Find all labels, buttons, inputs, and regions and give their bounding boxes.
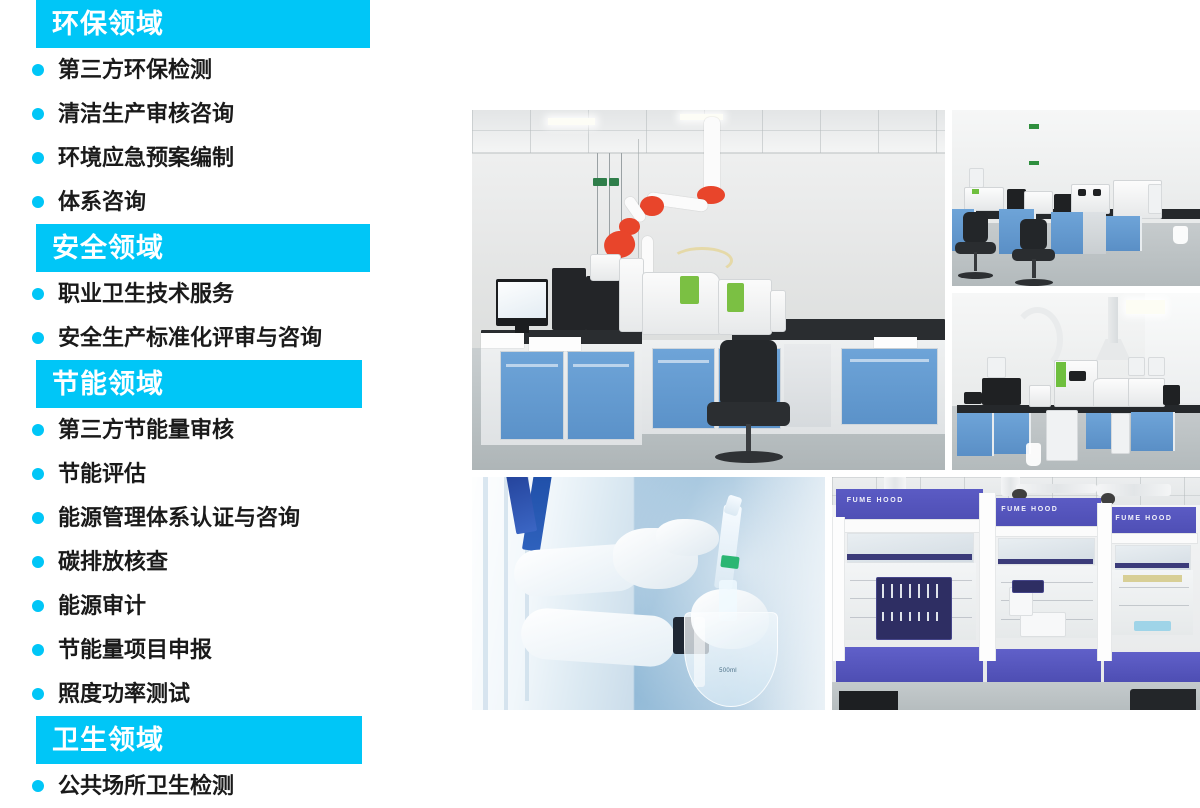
list-item[interactable]: 第三方环保检测 xyxy=(0,48,460,92)
bullet-icon xyxy=(32,468,44,480)
bullet-icon xyxy=(32,196,44,208)
section-header-hygiene: 卫生领域 xyxy=(36,716,362,764)
section-energy: 节能领域 第三方节能量审核 节能评估 能源管理体系认证与咨询 碳排放核查 xyxy=(0,360,460,716)
photo-gallery: 500ml FUME HOOD xyxy=(472,110,1200,710)
section-environmental: 环保领域 第三方环保检测 清洁生产审核咨询 环境应急预案编制 体系咨询 xyxy=(0,0,460,224)
bullet-icon xyxy=(32,688,44,700)
list-item-label: 体系咨询 xyxy=(58,180,146,224)
list-item-label: 能源审计 xyxy=(58,584,146,628)
section-header-energy: 节能领域 xyxy=(36,360,362,408)
list-item-label: 能源管理体系认证与咨询 xyxy=(58,496,300,540)
bullet-icon xyxy=(32,780,44,792)
photo-instrument-bench-mid xyxy=(952,293,1200,470)
list-item[interactable]: 碳排放核查 xyxy=(0,540,460,584)
list-item-label: 第三方环保检测 xyxy=(58,48,212,92)
list-item[interactable]: 节能量项目申报 xyxy=(0,628,460,672)
section-header-environmental: 环保领域 xyxy=(36,0,370,48)
list-item[interactable]: 节能评估 xyxy=(0,452,460,496)
bullet-icon xyxy=(32,644,44,656)
photo-fume-hoods: FUME HOOD FUME HOOD xyxy=(832,477,1200,710)
fume-hood-label: FUME HOOD xyxy=(1001,506,1058,513)
list-item[interactable]: 环境应急预案编制 xyxy=(0,136,460,180)
bullet-icon xyxy=(32,108,44,120)
section-safety: 安全领域 职业卫生技术服务 安全生产标准化评审与咨询 xyxy=(0,224,460,360)
page-root: 环保领域 第三方环保检测 清洁生产审核咨询 环境应急预案编制 体系咨询 xyxy=(0,0,1200,780)
fume-hood-label: FUME HOOD xyxy=(1115,515,1172,522)
section-header-safety: 安全领域 xyxy=(36,224,370,272)
list-item[interactable]: 体系咨询 xyxy=(0,180,460,224)
flask-volume-label: 500ml xyxy=(719,668,737,674)
photo-technician-flask: 500ml xyxy=(472,477,825,710)
list-item-label: 碳排放核查 xyxy=(58,540,168,584)
list-item[interactable]: 能源审计 xyxy=(0,584,460,628)
list-item-label: 照度功率测试 xyxy=(58,672,190,716)
bullet-icon xyxy=(32,556,44,568)
section-items-safety: 职业卫生技术服务 安全生产标准化评审与咨询 xyxy=(0,272,460,360)
section-items-energy: 第三方节能量审核 节能评估 能源管理体系认证与咨询 碳排放核查 能源审计 xyxy=(0,408,460,716)
bullet-icon xyxy=(32,64,44,76)
fume-hood-label: FUME HOOD xyxy=(847,497,904,504)
bullet-icon xyxy=(32,288,44,300)
list-item-label: 职业卫生技术服务 xyxy=(58,272,234,316)
photo-lab-room-main xyxy=(472,110,945,470)
list-item-label: 节能量项目申报 xyxy=(58,628,212,672)
photo-instrument-bench-top xyxy=(952,110,1200,286)
list-item[interactable]: 第三方节能量审核 xyxy=(0,408,460,452)
list-item-label: 公共场所卫生检测 xyxy=(58,764,234,808)
list-item-label: 安全生产标准化评审与咨询 xyxy=(58,316,322,360)
list-item[interactable]: 公共场所卫生检测 xyxy=(0,764,460,808)
list-item-label: 节能评估 xyxy=(58,452,146,496)
section-hygiene: 卫生领域 公共场所卫生检测 xyxy=(0,716,460,808)
section-items-hygiene: 公共场所卫生检测 xyxy=(0,764,460,808)
list-item-label: 第三方节能量审核 xyxy=(58,408,234,452)
list-item-label: 清洁生产审核咨询 xyxy=(58,92,234,136)
bullet-icon xyxy=(32,152,44,164)
list-item[interactable]: 安全生产标准化评审与咨询 xyxy=(0,316,460,360)
list-item[interactable]: 职业卫生技术服务 xyxy=(0,272,460,316)
list-item[interactable]: 能源管理体系认证与咨询 xyxy=(0,496,460,540)
bullet-icon xyxy=(32,332,44,344)
service-domain-list: 环保领域 第三方环保检测 清洁生产审核咨询 环境应急预案编制 体系咨询 xyxy=(0,0,460,780)
list-item-label: 环境应急预案编制 xyxy=(58,136,234,180)
bullet-icon xyxy=(32,424,44,436)
list-item[interactable]: 照度功率测试 xyxy=(0,672,460,716)
bullet-icon xyxy=(32,512,44,524)
list-item[interactable]: 清洁生产审核咨询 xyxy=(0,92,460,136)
section-items-environmental: 第三方环保检测 清洁生产审核咨询 环境应急预案编制 体系咨询 xyxy=(0,48,460,224)
bullet-icon xyxy=(32,600,44,612)
